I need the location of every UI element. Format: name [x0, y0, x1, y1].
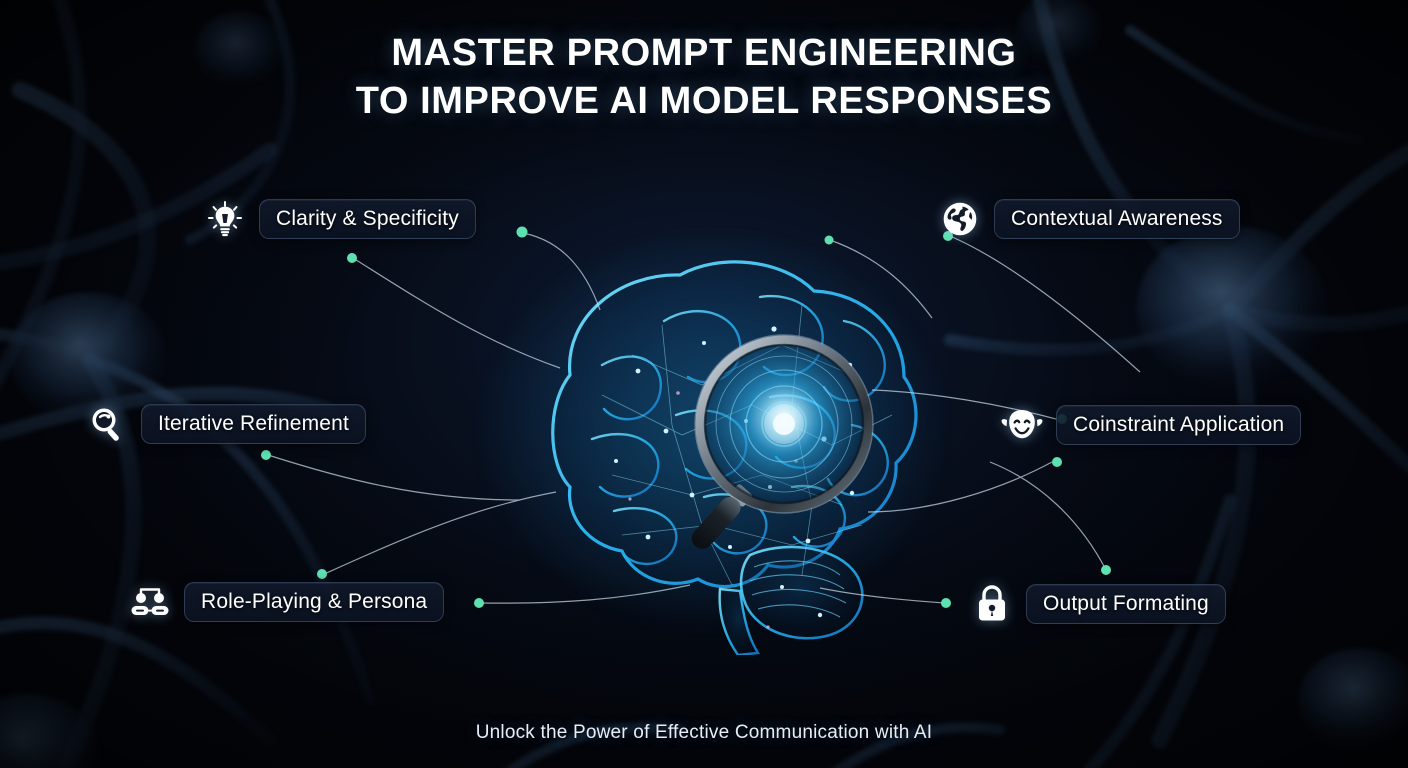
feature-label-constraint[interactable]: Coinstraint Application	[1056, 405, 1301, 445]
feature-label-iterative[interactable]: Iterative Refinement	[141, 404, 366, 444]
title-line-1: MASTER PROMPT ENGINEERING	[391, 32, 1016, 74]
feature-node-iterative[interactable]: Iterative Refinement	[85, 402, 366, 446]
infographic-canvas: MASTER PROMPT ENGINEERING TO IMPROVE AI …	[0, 0, 1408, 768]
feature-label-context[interactable]: Contextual Awareness	[994, 199, 1240, 239]
feature-node-constraint[interactable]: Coinstraint Application	[1000, 403, 1301, 447]
feature-node-output[interactable]: Output Formating	[970, 582, 1226, 626]
magnifying-glass-icon	[668, 320, 918, 580]
feature-label-output[interactable]: Output Formating	[1026, 584, 1226, 624]
face-mask-icon	[1000, 403, 1044, 447]
feature-node-context[interactable]: Contextual Awareness	[938, 197, 1240, 241]
feature-node-clarity[interactable]: Clarity & Specificity	[203, 197, 476, 241]
magnifier-icon	[85, 402, 129, 446]
brain-illustration	[452, 225, 972, 655]
org-chart-icon	[128, 580, 172, 624]
globe-icon	[938, 197, 982, 241]
footer-caption: Unlock the Power of Effective Communicat…	[0, 722, 1408, 744]
lightbulb-icon	[203, 197, 247, 241]
feature-node-role[interactable]: Role-Playing & Persona	[128, 580, 444, 624]
feature-label-role[interactable]: Role-Playing & Persona	[184, 582, 444, 622]
feature-label-clarity[interactable]: Clarity & Specificity	[259, 199, 476, 239]
title-line-2: TO IMPROVE AI MODEL RESPONSES	[0, 78, 1408, 126]
padlock-icon	[970, 582, 1014, 626]
page-title: MASTER PROMPT ENGINEERING TO IMPROVE AI …	[0, 30, 1408, 125]
